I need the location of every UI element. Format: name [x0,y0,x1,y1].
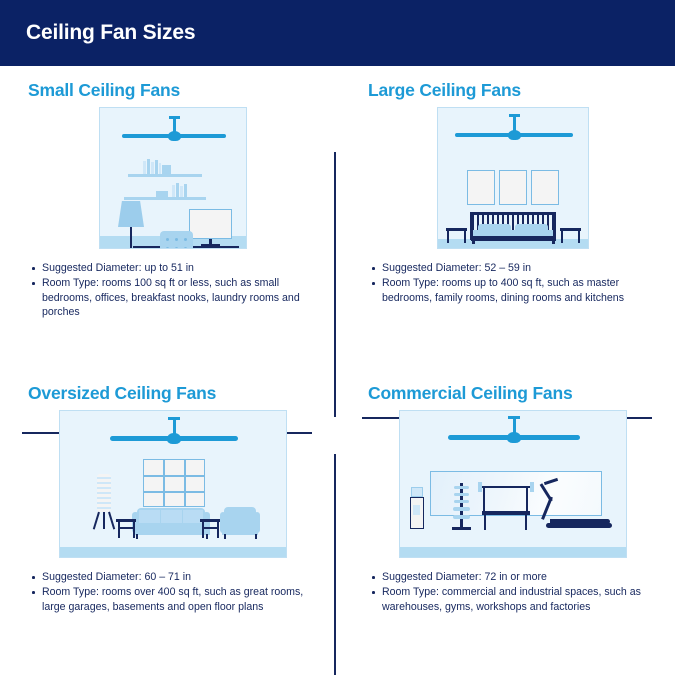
bedroom-scene [437,107,589,249]
side-table-shelf [202,527,219,529]
illustration-wrap-commercial [348,410,675,558]
section-title-commercial: Commercial Ceiling Fans [368,383,675,404]
section-title-small: Small Ceiling Fans [28,80,338,101]
wall-art [467,170,495,205]
desk-leg-right [202,248,232,249]
section-commercial-ceiling-fans: Commercial Ceiling Fans [348,383,675,615]
floor-lamp-shade [118,201,144,227]
armchair-seat [222,523,258,535]
dumbbell-rack-base [452,527,471,530]
chair-detail [175,238,178,241]
chair-detail [166,238,169,241]
list-item: Suggested Diameter: up to 51 in [30,261,315,275]
dumbbell [453,515,470,519]
sofa-leg [136,534,138,539]
bullet-list-small: Suggested Diameter: up to 51 in Room Typ… [30,261,338,320]
chair-detail [184,238,187,241]
living-room-scene [59,410,287,558]
water-cooler-panel [413,505,420,515]
barbell-plate [530,482,534,492]
window-frame [143,459,205,507]
armchair-leg [224,534,226,539]
infographic-page: Ceiling Fan Sizes Small Ceiling Fans [0,0,675,675]
chair-detail [175,247,178,249]
side-table-leg [118,521,120,538]
chair-detail [166,247,169,249]
shelf-upper [128,174,202,177]
bed-leg [472,240,475,244]
lamp-tripod-leg [103,512,105,529]
armchair-leg [255,534,257,539]
monitor-screen [189,209,232,239]
section-title-large: Large Ceiling Fans [368,80,675,101]
lamp-tripod-leg [108,512,115,530]
ceiling-fan-icon [400,416,627,448]
list-item: Room Type: rooms over 400 sq ft, such as… [30,585,315,614]
window-mullion-h [143,475,205,477]
home-office-scene [99,107,247,249]
book [151,162,154,174]
bed-leg [552,240,555,244]
nightstand-right-leg [561,230,563,243]
list-item: Room Type: rooms up to 400 sq ft, such a… [370,276,655,305]
page-title: Ceiling Fan Sizes [26,21,195,45]
bench-leg [484,514,486,530]
window-mullion-v [184,459,186,507]
section-large-ceiling-fans: Large Ceiling Fans [348,80,675,306]
book [143,161,146,174]
illustration-wrap-large [348,107,675,249]
window-mullion-v [163,459,165,507]
bed-base [471,236,556,241]
illustration-wrap-small [8,107,338,249]
illustration-wrap-oversized [8,410,338,558]
window-mullion-h [143,491,205,493]
dumbbell-rack-post [460,483,463,529]
lamp-tripod-leg [93,512,100,530]
book-block [162,165,171,174]
water-cooler-bottle [411,487,423,497]
dumbbell [454,493,469,496]
book [159,163,162,174]
dumbbell [453,507,470,511]
nightstand-left-leg [464,230,466,243]
ceiling-fan-icon [60,417,287,449]
nightstand-right-leg [578,230,580,243]
bench-leg [525,514,527,530]
side-table-shelf [118,527,135,529]
bullet-list-large: Suggested Diameter: 52 – 59 in Room Type… [370,261,675,305]
list-item: Room Type: commercial and industrial spa… [370,585,655,614]
page-header: Ceiling Fan Sizes [0,0,675,66]
book [147,159,150,174]
list-item: Suggested Diameter: 52 – 59 in [370,261,655,275]
book-block [156,191,168,197]
section-oversized-ceiling-fans: Oversized Ceiling Fans [8,383,338,615]
side-table-leg [217,521,219,538]
dumbbell [454,486,469,489]
list-item: Suggested Diameter: 72 in or more [370,570,655,584]
book [172,185,175,197]
side-table-leg [133,521,135,538]
floor [60,547,286,557]
wall-art [499,170,527,205]
wall-art [531,170,559,205]
nightstand-left-leg [447,230,449,243]
bench-upright-left [483,487,485,513]
floor [400,547,626,557]
shelf-lower [124,197,206,200]
side-table-leg [202,521,204,538]
book [180,186,183,197]
section-small-ceiling-fans: Small Ceiling Fans [8,80,338,321]
book [155,160,158,174]
book [176,183,179,197]
desk-leg-left [136,248,166,249]
floor-lamp-shade [97,474,111,512]
bench-pad [482,511,530,515]
floor-lamp-pole [130,227,132,249]
sofa-seat [134,523,210,535]
barbell-plate [478,482,482,492]
ceiling-fan-icon [100,116,247,146]
treadmill-base [546,523,612,528]
sections-grid: Small Ceiling Fans [0,66,675,675]
list-item: Suggested Diameter: 60 – 71 in [30,570,315,584]
book [184,184,187,197]
list-item: Room Type: rooms 100 sq ft or less, such… [30,276,315,319]
bullet-list-commercial: Suggested Diameter: 72 in or more Room T… [370,570,675,614]
bench-upright-right [526,487,528,513]
chair-detail [184,247,187,249]
dumbbell [454,500,469,503]
section-title-oversized: Oversized Ceiling Fans [28,383,338,404]
ceiling-fan-icon [438,114,589,146]
barbell-bar [480,486,532,488]
gym-scene [399,410,627,558]
bullet-list-oversized: Suggested Diameter: 60 – 71 in Room Type… [30,570,338,614]
sofa-leg [206,534,208,539]
